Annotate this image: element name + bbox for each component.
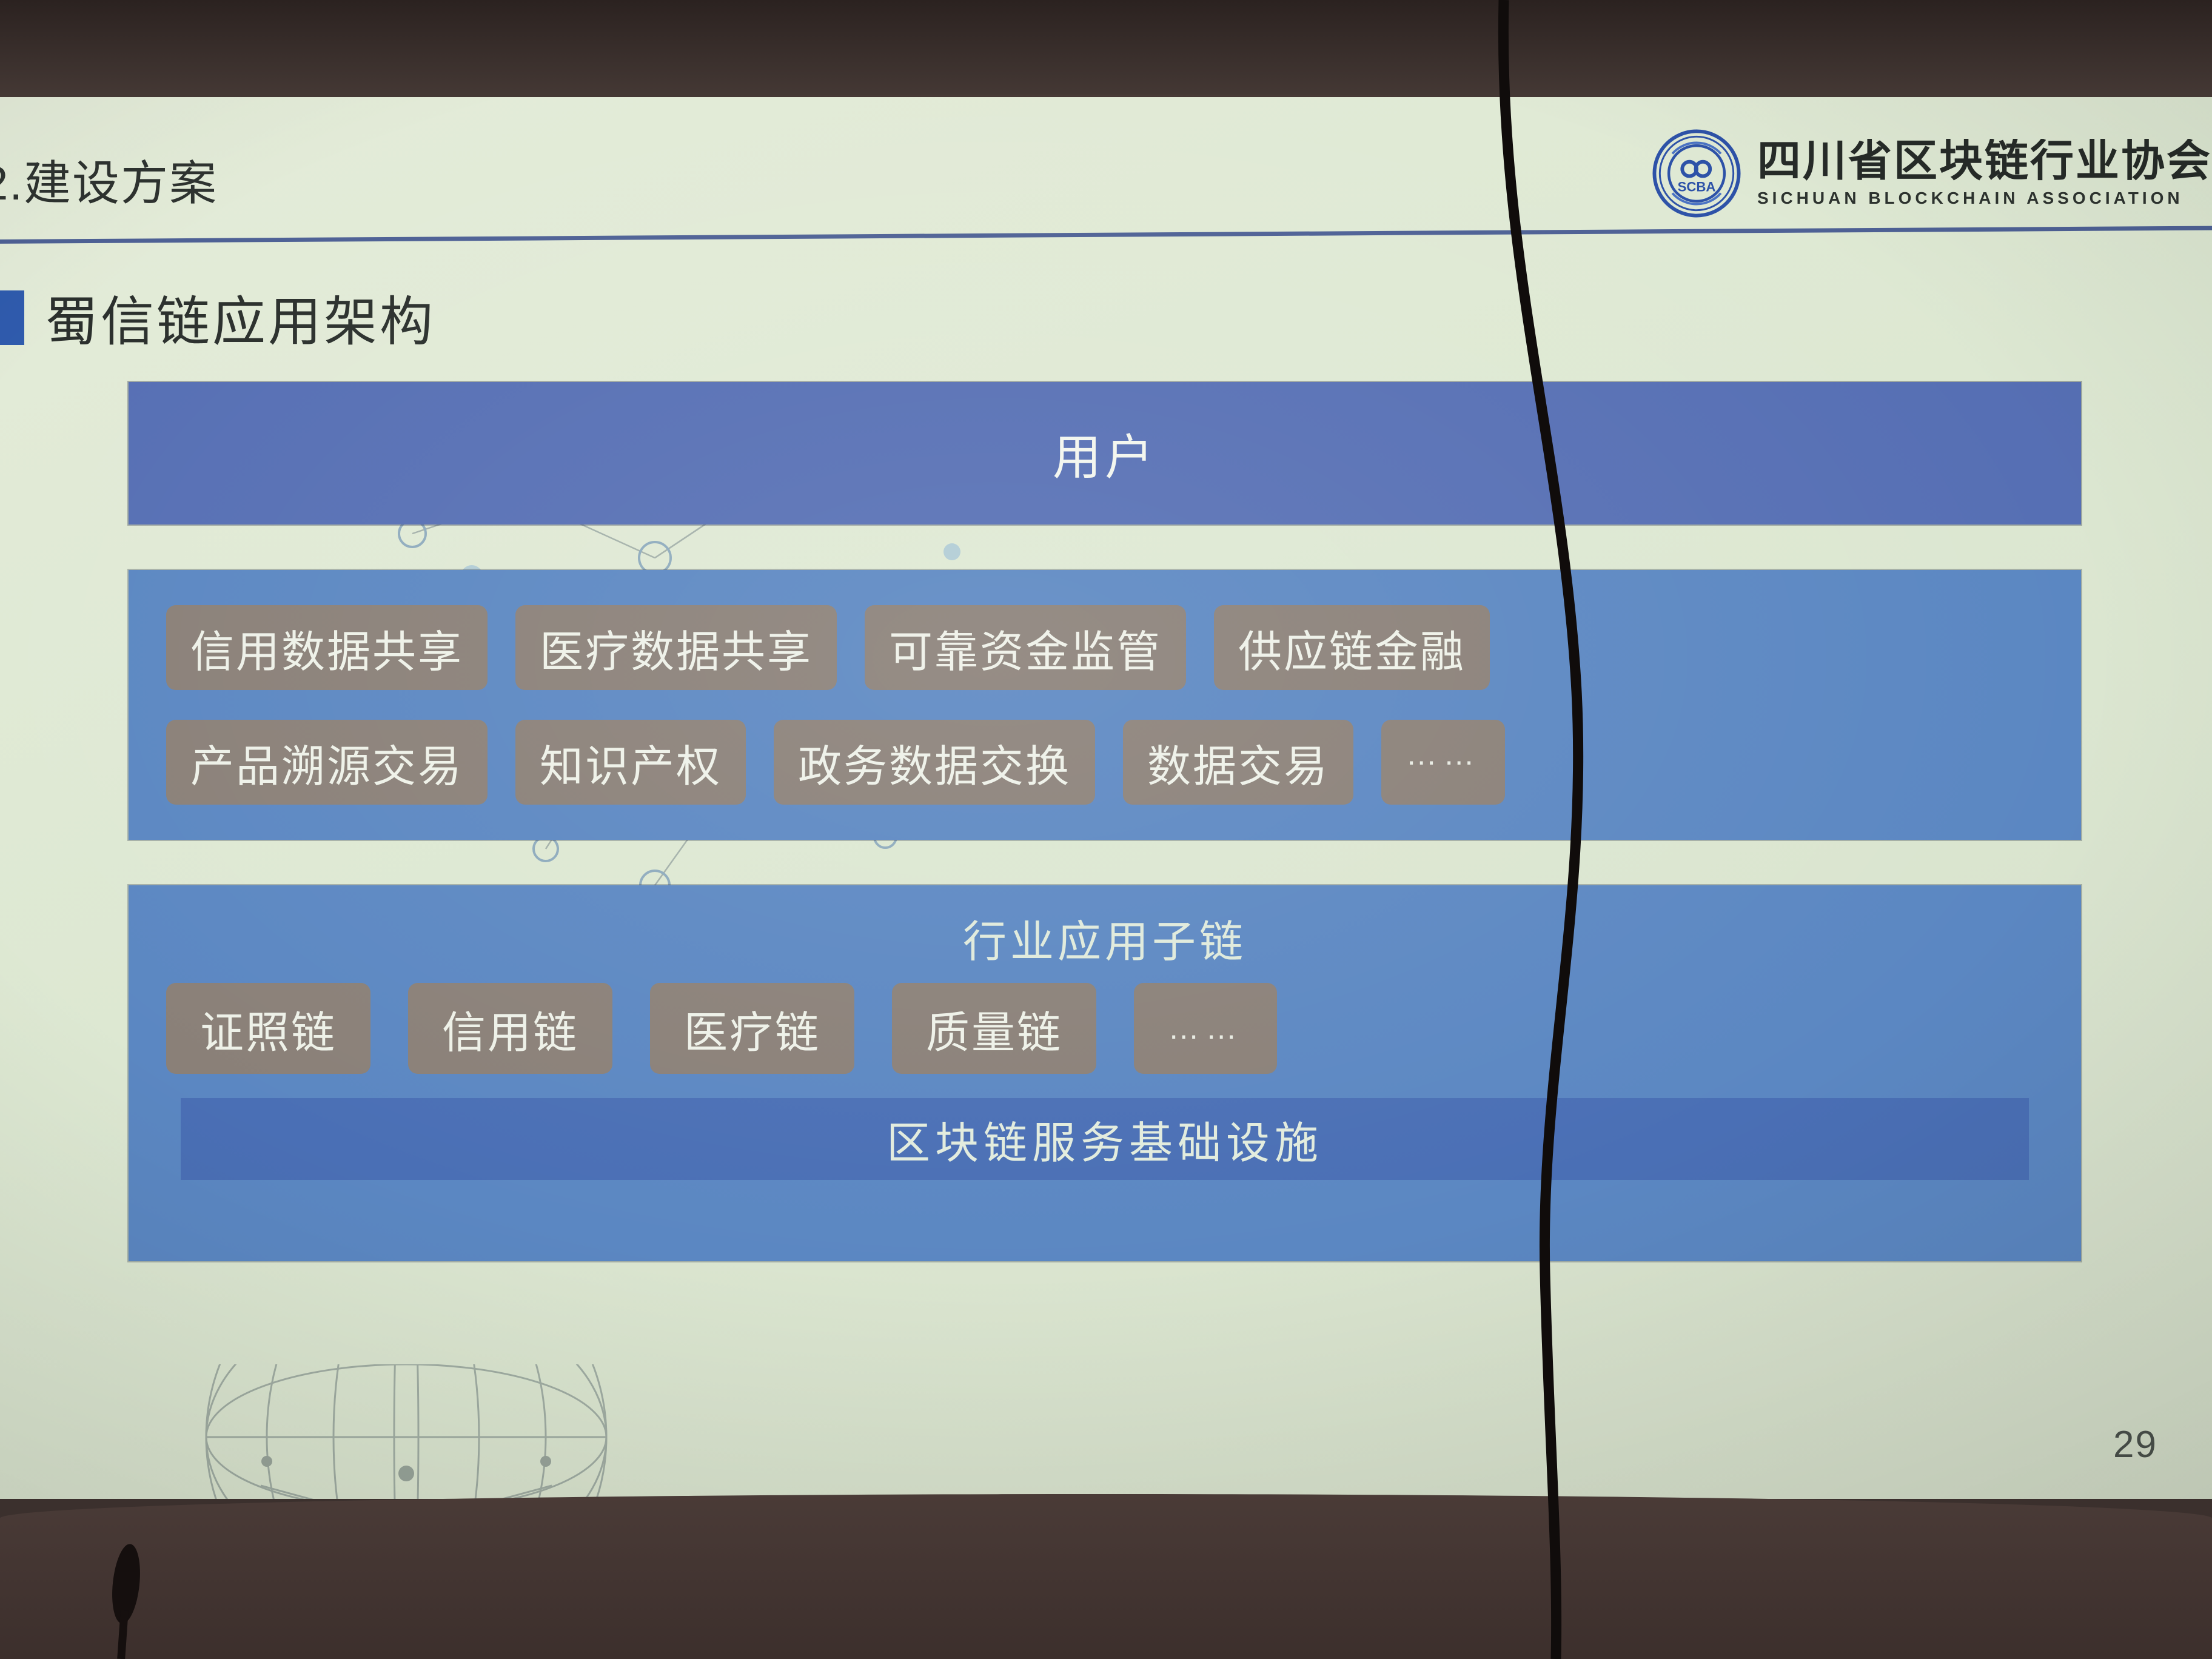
app-tag[interactable]: 政务数据交换 [774,720,1095,805]
chain-tag-row: 证照链 信用链 医疗链 质量链 …… [166,983,2043,1074]
chain-tag[interactable]: 信用链 [408,983,612,1074]
app-tag[interactable]: 知识产权 [515,720,746,805]
app-tag[interactable]: 产品溯源交易 [166,720,488,805]
app-tag-more[interactable]: …… [1381,720,1505,805]
logo-title-en: SICHUAN BLOCKCHAIN ASSOCIATION [1757,189,2212,208]
architecture-diagram: 用户 信用数据共享 医疗数据共享 可靠资金监管 供应链金融 产品溯源交易 知识产… [129,382,2081,1292]
user-layer-label: 用户 [1053,418,1157,489]
logo-title-cn: 四川省区块链行业协会 [1757,139,2212,185]
infrastructure-bar: 区块链服务基础设施 [181,1098,2029,1180]
application-row-2: 产品溯源交易 知识产权 政务数据交换 数据交易 …… [166,720,2043,805]
wall-upper [0,0,2212,103]
section-title-label: 蜀信链应用架构 [45,279,435,356]
projected-slide: 2.建设方案 SCBA 四川省区 [0,97,2212,1499]
conference-room-background: 2.建设方案 SCBA 四川省区 [0,0,2212,1659]
chain-layer-band: 行业应用子链 证照链 信用链 医疗链 质量链 …… 区块链服务基础设施 [129,885,2081,1261]
header-divider [0,226,2212,244]
page-title: 2.建设方案 [0,146,218,213]
chain-tag[interactable]: 医疗链 [650,983,854,1074]
app-tag[interactable]: 信用数据共享 [166,605,488,690]
app-tag[interactable]: 供应链金融 [1214,605,1490,690]
chain-tag[interactable]: 证照链 [166,983,370,1074]
section-accent-bar [0,290,24,345]
chain-tag-more[interactable]: …… [1134,983,1277,1074]
chain-tag[interactable]: 质量链 [892,983,1096,1074]
wireframe-globe-graphic [170,1364,643,1499]
svg-text:SCBA: SCBA [1678,179,1716,195]
app-tag[interactable]: 数据交易 [1123,720,1353,805]
slide-header: 2.建设方案 SCBA 四川省区 [0,97,2212,249]
association-logo: SCBA 四川省区块链行业协会 SICHUAN BLOCKCHAIN ASSOC… [1652,129,2212,218]
wall-lower [0,1494,2212,1659]
scba-seal-icon: SCBA [1652,129,1741,218]
app-tag[interactable]: 可靠资金监管 [865,605,1186,690]
chain-layer-heading: 行业应用子链 [166,906,2043,970]
page-number: 29 [2113,1423,2157,1466]
application-row-1: 信用数据共享 医疗数据共享 可靠资金监管 供应链金融 [166,605,2043,690]
section-title: 蜀信链应用架构 [0,279,435,356]
application-layer-band: 信用数据共享 医疗数据共享 可靠资金监管 供应链金融 产品溯源交易 知识产权 政… [129,570,2081,840]
app-tag[interactable]: 医疗数据共享 [515,605,837,690]
user-layer-band: 用户 [129,382,2081,525]
